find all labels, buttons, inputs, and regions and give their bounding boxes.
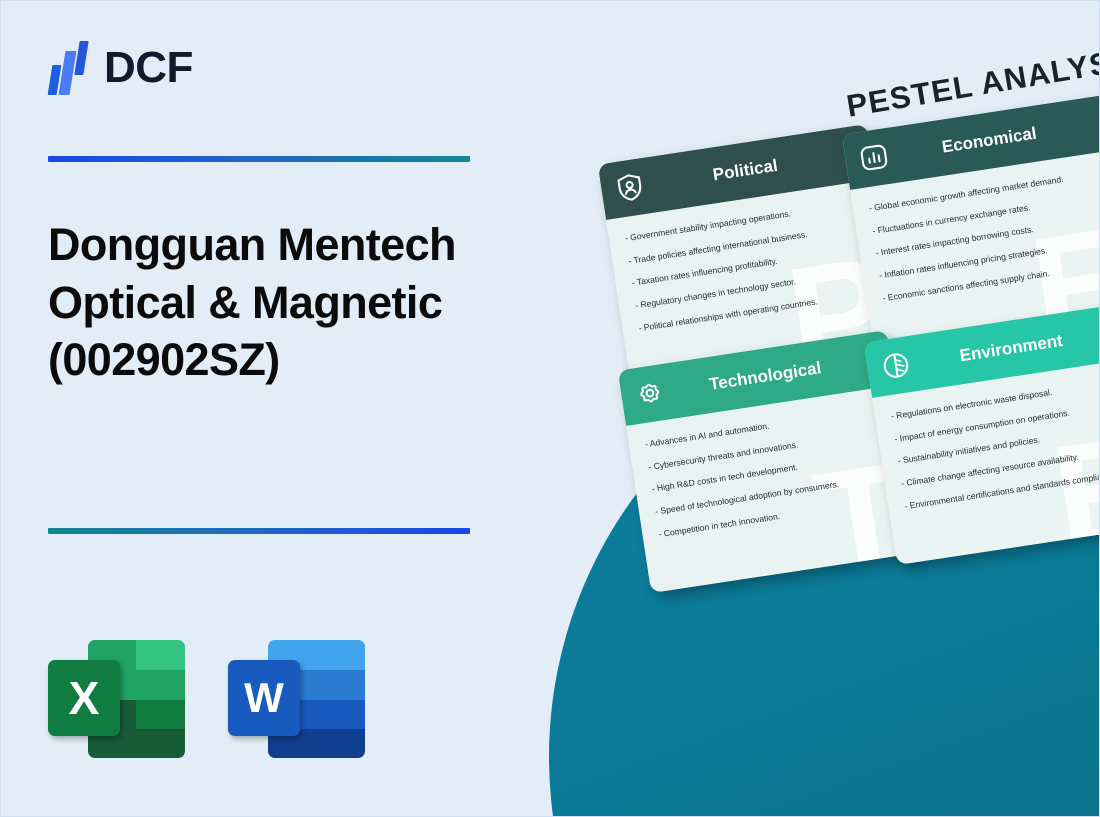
excel-letter: X bbox=[48, 660, 120, 736]
gear-icon bbox=[632, 376, 667, 411]
brand-logo-text: DCF bbox=[104, 46, 193, 90]
cover-page: DCF Dongguan Mentech Optical & Magnetic … bbox=[0, 0, 1100, 817]
bullet-list-technological: Advances in AI and automation. Cybersecu… bbox=[644, 404, 897, 540]
brand-logo[interactable]: DCF bbox=[48, 41, 193, 95]
bar-chart-icon bbox=[856, 140, 891, 175]
divider-top bbox=[48, 156, 470, 162]
bullet-list-environment: Regulations on electronic waste disposal… bbox=[890, 376, 1100, 512]
word-file-icon[interactable]: W bbox=[226, 638, 366, 758]
left-panel: DCF Dongguan Mentech Optical & Magnetic … bbox=[1, 1, 521, 817]
word-letter: W bbox=[228, 660, 300, 736]
bullet-list-political: Government stability impacting operation… bbox=[624, 198, 877, 334]
pestel-card-environment[interactable]: Environment E Regulations on electronic … bbox=[864, 302, 1100, 565]
download-formats: X W bbox=[46, 638, 366, 758]
pestel-panel: PESTEL ANALYSIS Political P Government s… bbox=[561, 1, 1100, 817]
bar-chart-logo-icon bbox=[48, 41, 90, 95]
page-title: Dongguan Mentech Optical & Magnetic (002… bbox=[48, 216, 493, 389]
shield-person-icon bbox=[612, 170, 647, 205]
excel-file-icon[interactable]: X bbox=[46, 638, 186, 758]
divider-bottom bbox=[48, 528, 470, 534]
bullet-list-economical: Global economic growth affecting market … bbox=[868, 168, 1100, 304]
leaf-icon bbox=[878, 348, 913, 383]
